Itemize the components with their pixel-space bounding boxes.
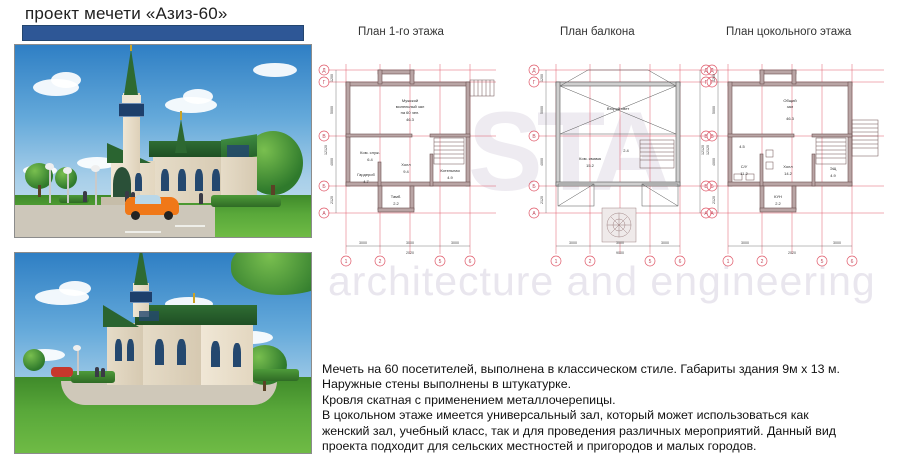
cloud bbox=[59, 281, 91, 296]
gable-window bbox=[227, 145, 249, 157]
window bbox=[195, 169, 203, 191]
plaza-paving bbox=[15, 205, 215, 237]
description-line: Кровля скатная с применением металлочере… bbox=[322, 393, 897, 408]
minaret-balcony bbox=[119, 103, 144, 117]
window bbox=[212, 169, 220, 191]
title-accent-bar bbox=[22, 25, 304, 41]
svg-text:4000: 4000 bbox=[712, 158, 716, 166]
svg-text:12120: 12120 bbox=[706, 145, 710, 155]
window bbox=[233, 343, 241, 367]
svg-text:А: А bbox=[704, 211, 708, 217]
svg-text:2: 2 bbox=[379, 259, 382, 265]
plan-basement: ДГВ БА 12 56 bbox=[700, 58, 896, 278]
window bbox=[161, 169, 169, 191]
svg-text:Ком. имама: Ком. имама bbox=[579, 156, 601, 161]
svg-text:Г: Г bbox=[705, 80, 708, 86]
svg-text:5000: 5000 bbox=[712, 106, 716, 114]
window bbox=[177, 339, 186, 365]
svg-text:1: 1 bbox=[555, 259, 558, 265]
person bbox=[101, 368, 105, 377]
svg-text:В: В bbox=[704, 134, 708, 140]
svg-text:2.2: 2.2 bbox=[775, 201, 781, 206]
svg-text:4.9: 4.9 bbox=[830, 173, 836, 178]
svg-text:3000: 3000 bbox=[569, 241, 577, 245]
street-lamp bbox=[95, 169, 97, 205]
svg-text:Холл: Холл bbox=[401, 162, 411, 167]
description-line: женский зал, учебный класс, так и для пр… bbox=[322, 424, 897, 439]
street-lamp-head bbox=[45, 163, 54, 170]
svg-text:1: 1 bbox=[727, 259, 730, 265]
minaret-spire bbox=[124, 49, 138, 95]
svg-text:46.3: 46.3 bbox=[786, 116, 795, 121]
person bbox=[95, 367, 99, 377]
person bbox=[83, 191, 87, 202]
svg-text:4000: 4000 bbox=[330, 158, 334, 166]
svg-text:Б: Б bbox=[322, 184, 326, 190]
svg-text:Д: Д bbox=[322, 68, 326, 74]
svg-text:Мужской: Мужской bbox=[402, 98, 418, 103]
window bbox=[178, 169, 186, 191]
project-sheet: проект мечети «Азиз-60» bbox=[0, 0, 900, 465]
svg-text:4000: 4000 bbox=[540, 158, 544, 166]
svg-text:2: 2 bbox=[589, 259, 592, 265]
road-marking bbox=[175, 225, 205, 227]
svg-text:3000: 3000 bbox=[833, 241, 841, 245]
svg-text:Д: Д bbox=[532, 68, 536, 74]
svg-text:2.4: 2.4 bbox=[623, 148, 629, 153]
svg-text:5: 5 bbox=[649, 259, 652, 265]
svg-text:А: А bbox=[322, 211, 326, 217]
window bbox=[155, 339, 164, 365]
car-body bbox=[51, 367, 73, 377]
description-line: проекта подходит для сельских местностей… bbox=[322, 439, 897, 454]
svg-text:Б: Б bbox=[532, 184, 536, 190]
svg-text:3000: 3000 bbox=[406, 241, 414, 245]
svg-text:Тамб.: Тамб. bbox=[391, 194, 402, 199]
svg-text:1200: 1200 bbox=[540, 74, 544, 82]
street-lamp-head bbox=[63, 167, 72, 174]
mosque-rear-body bbox=[141, 317, 201, 385]
svg-text:2120: 2120 bbox=[540, 196, 544, 204]
svg-text:11.2: 11.2 bbox=[740, 171, 748, 176]
svg-text:3000: 3000 bbox=[451, 241, 459, 245]
page-title: проект мечети «Азиз-60» bbox=[25, 4, 228, 24]
dome-finial bbox=[193, 293, 195, 303]
plan-title-balcony: План балкона bbox=[560, 26, 635, 38]
description-line: В цокольном этаже имеется универсальный … bbox=[322, 408, 897, 423]
person bbox=[199, 193, 203, 204]
svg-text:4.7: 4.7 bbox=[363, 179, 369, 184]
plan-basement-drawing: ДГВ БА 12 56 bbox=[700, 58, 896, 278]
tree-trunk bbox=[38, 185, 41, 197]
minaret-spire bbox=[134, 252, 148, 285]
svg-text:5000: 5000 bbox=[330, 106, 334, 114]
svg-text:молельный зал: молельный зал bbox=[396, 104, 425, 109]
svg-text:ЭЩ: ЭЩ bbox=[830, 166, 837, 171]
hedge bbox=[211, 195, 281, 207]
svg-text:3000: 3000 bbox=[359, 241, 367, 245]
svg-text:1200: 1200 bbox=[330, 74, 334, 82]
svg-text:3000: 3000 bbox=[741, 241, 749, 245]
cloud bbox=[51, 72, 81, 88]
plan-title-basement: План цокольного этажа bbox=[726, 26, 851, 38]
cloud bbox=[253, 63, 297, 77]
minaret-finial bbox=[130, 44, 132, 51]
svg-text:1200: 1200 bbox=[712, 74, 716, 82]
street-lamp bbox=[77, 349, 79, 375]
svg-text:5000: 5000 bbox=[540, 106, 544, 114]
car-wheel bbox=[164, 211, 173, 220]
gable-window bbox=[139, 311, 159, 321]
svg-text:Котельная: Котельная bbox=[440, 168, 459, 173]
svg-text:2120: 2120 bbox=[330, 196, 334, 204]
svg-text:Ком. служ.: Ком. служ. bbox=[360, 150, 380, 155]
dome-spire bbox=[175, 119, 187, 153]
svg-text:Второй свет: Второй свет bbox=[607, 106, 630, 111]
svg-text:5: 5 bbox=[439, 259, 442, 265]
project-description: Мечеть на 60 посетителей, выполнена в кл… bbox=[322, 362, 897, 454]
svg-text:Гардероб: Гардероб bbox=[357, 172, 375, 177]
svg-text:2120: 2120 bbox=[712, 196, 716, 204]
svg-text:6: 6 bbox=[851, 259, 854, 265]
street-lamp-head bbox=[73, 345, 81, 351]
svg-text:3000: 3000 bbox=[616, 241, 624, 245]
plan-first-floor: ДГВ БА 12 56 bbox=[318, 58, 508, 278]
street-lamp-head bbox=[91, 165, 100, 172]
svg-text:зал: зал bbox=[787, 104, 794, 109]
cloud bbox=[183, 89, 213, 104]
hedge bbox=[253, 369, 299, 381]
svg-text:Г: Г bbox=[533, 80, 536, 86]
svg-text:6: 6 bbox=[469, 259, 472, 265]
street-lamp bbox=[67, 171, 69, 203]
minaret-balcony bbox=[130, 291, 152, 303]
svg-text:2020: 2020 bbox=[788, 251, 796, 255]
car-window bbox=[135, 195, 161, 204]
svg-text:В: В bbox=[532, 134, 536, 140]
description-line: Наружные стены выполнены в штукатурке. bbox=[322, 377, 897, 392]
car-wheel bbox=[131, 211, 140, 220]
svg-text:14.2: 14.2 bbox=[784, 171, 793, 176]
svg-text:КУН: КУН bbox=[774, 194, 782, 199]
svg-text:Г: Г bbox=[323, 80, 326, 86]
svg-text:15.2: 15.2 bbox=[586, 163, 595, 168]
street-lamp bbox=[49, 167, 51, 203]
svg-text:12120: 12120 bbox=[324, 145, 328, 155]
svg-text:6: 6 bbox=[679, 259, 682, 265]
window bbox=[127, 339, 134, 361]
window bbox=[135, 173, 142, 191]
svg-text:А: А bbox=[532, 211, 536, 217]
svg-text:Б: Б bbox=[704, 184, 708, 190]
mosque-front-render bbox=[14, 44, 312, 238]
svg-text:46.3: 46.3 bbox=[406, 117, 415, 122]
svg-text:Общий: Общий bbox=[783, 98, 796, 103]
plan-title-first-floor: План 1-го этажа bbox=[358, 26, 444, 38]
svg-text:Холл: Холл bbox=[783, 164, 793, 169]
plan-balcony-drawing: ДГВ БА ДГВ БА 12 56 bbox=[528, 58, 718, 278]
svg-text:2.2: 2.2 bbox=[393, 201, 399, 206]
svg-text:2: 2 bbox=[761, 259, 764, 265]
description-line: Мечеть на 60 посетителей, выполнена в кл… bbox=[322, 362, 897, 377]
mosque-rear-wing bbox=[201, 323, 253, 385]
svg-text:5: 5 bbox=[821, 259, 824, 265]
svg-text:2020: 2020 bbox=[406, 251, 414, 255]
svg-text:3000: 3000 bbox=[661, 241, 669, 245]
svg-text:В: В bbox=[322, 134, 326, 140]
road-marking bbox=[125, 231, 161, 233]
svg-text:4.5: 4.5 bbox=[739, 144, 745, 149]
svg-text:1: 1 bbox=[345, 259, 348, 265]
svg-text:9.4: 9.4 bbox=[403, 169, 409, 174]
svg-text:на 60 чел.: на 60 чел. bbox=[401, 110, 420, 115]
window bbox=[211, 341, 220, 367]
tree bbox=[23, 349, 45, 371]
mosque-rear-render bbox=[14, 252, 312, 454]
svg-text:Д: Д bbox=[704, 68, 708, 74]
plan-first-floor-drawing: ДГВ БА 12 56 bbox=[318, 58, 508, 278]
dome-finial bbox=[180, 111, 182, 120]
minaret-cornice bbox=[122, 95, 141, 103]
svg-text:6.4: 6.4 bbox=[367, 157, 373, 162]
plan-balcony: ДГВ БА ДГВ БА 12 56 bbox=[528, 58, 718, 278]
window bbox=[115, 339, 122, 361]
svg-text:4.9: 4.9 bbox=[447, 175, 453, 180]
svg-text:9000: 9000 bbox=[616, 251, 624, 255]
svg-text:С/У: С/У bbox=[741, 164, 748, 169]
